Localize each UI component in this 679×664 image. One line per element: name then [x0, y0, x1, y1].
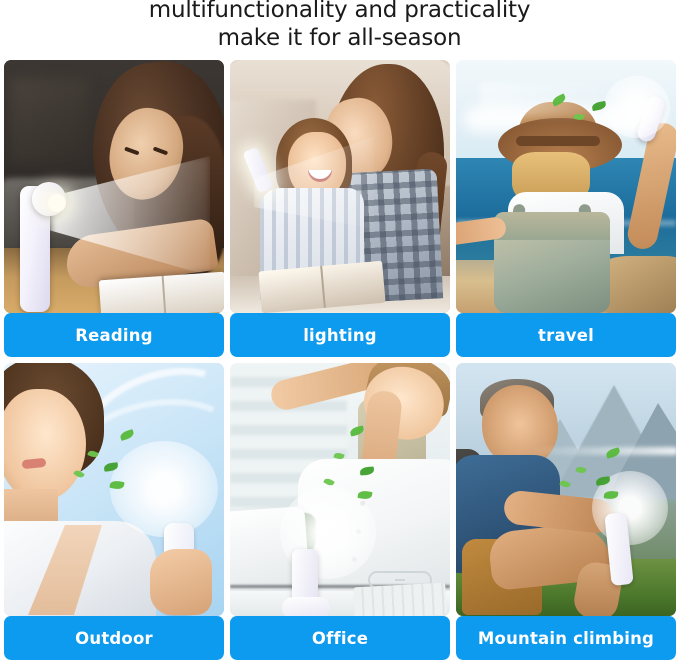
- girl-eye-left: [124, 147, 139, 156]
- lighting-photo: [230, 60, 450, 313]
- card-label-text: Office: [312, 629, 368, 648]
- fan-blade-blur: [604, 76, 670, 138]
- use-case-grid: Reading: [4, 60, 675, 660]
- mountain-climbing-photo: [456, 363, 676, 616]
- card-label-text: Mountain climbing: [478, 629, 654, 648]
- page-title: multifunctionality and practicality make…: [0, 0, 679, 52]
- use-case-card-reading[interactable]: Reading: [4, 60, 224, 357]
- use-case-card-office[interactable]: Office: [230, 363, 450, 660]
- use-case-card-travel[interactable]: travel: [456, 60, 676, 357]
- card-label-office[interactable]: Office: [230, 616, 450, 660]
- card-label-text: Outdoor: [75, 629, 153, 648]
- card-label-reading[interactable]: Reading: [4, 313, 224, 357]
- title-line-1: multifunctionality and practicality: [0, 0, 679, 24]
- promo-image: multifunctionality and practicality make…: [0, 0, 679, 664]
- use-case-card-outdoor[interactable]: Outdoor: [4, 363, 224, 660]
- keyboard: [353, 583, 447, 616]
- reading-scene: [4, 60, 224, 313]
- airflow-streak: [528, 447, 676, 455]
- card-label-mountain-climbing[interactable]: Mountain climbing: [456, 616, 676, 660]
- background-object: [10, 78, 88, 164]
- outdoor-scene: [4, 363, 224, 616]
- title-line-2: make it for all-season: [0, 24, 679, 52]
- hat-band: [516, 136, 600, 146]
- travel-scene: [456, 60, 676, 313]
- hand-holding-fan: [150, 549, 212, 615]
- card-label-text: travel: [538, 326, 594, 345]
- office-photo: [230, 363, 450, 616]
- fan-base: [282, 597, 330, 616]
- lighting-scene: [230, 60, 450, 313]
- travel-photo: [456, 60, 676, 313]
- girl-eye-right: [153, 146, 168, 155]
- use-case-card-mountain-climbing[interactable]: Mountain climbing: [456, 363, 676, 660]
- card-label-lighting[interactable]: lighting: [230, 313, 450, 357]
- office-scene: [230, 363, 450, 616]
- device-lamp-glow: [48, 194, 66, 212]
- card-label-outdoor[interactable]: Outdoor: [4, 616, 224, 660]
- backpack-roll-top: [494, 212, 610, 240]
- outdoor-photo: [4, 363, 224, 616]
- card-label-text: lighting: [303, 326, 377, 345]
- card-label-travel[interactable]: travel: [456, 313, 676, 357]
- fan-blade-blur: [110, 441, 218, 537]
- airflow-streak: [480, 82, 610, 116]
- use-case-card-lighting[interactable]: lighting: [230, 60, 450, 357]
- reading-photo: [4, 60, 224, 313]
- card-label-text: Reading: [75, 326, 152, 345]
- mountain-scene: [456, 363, 676, 616]
